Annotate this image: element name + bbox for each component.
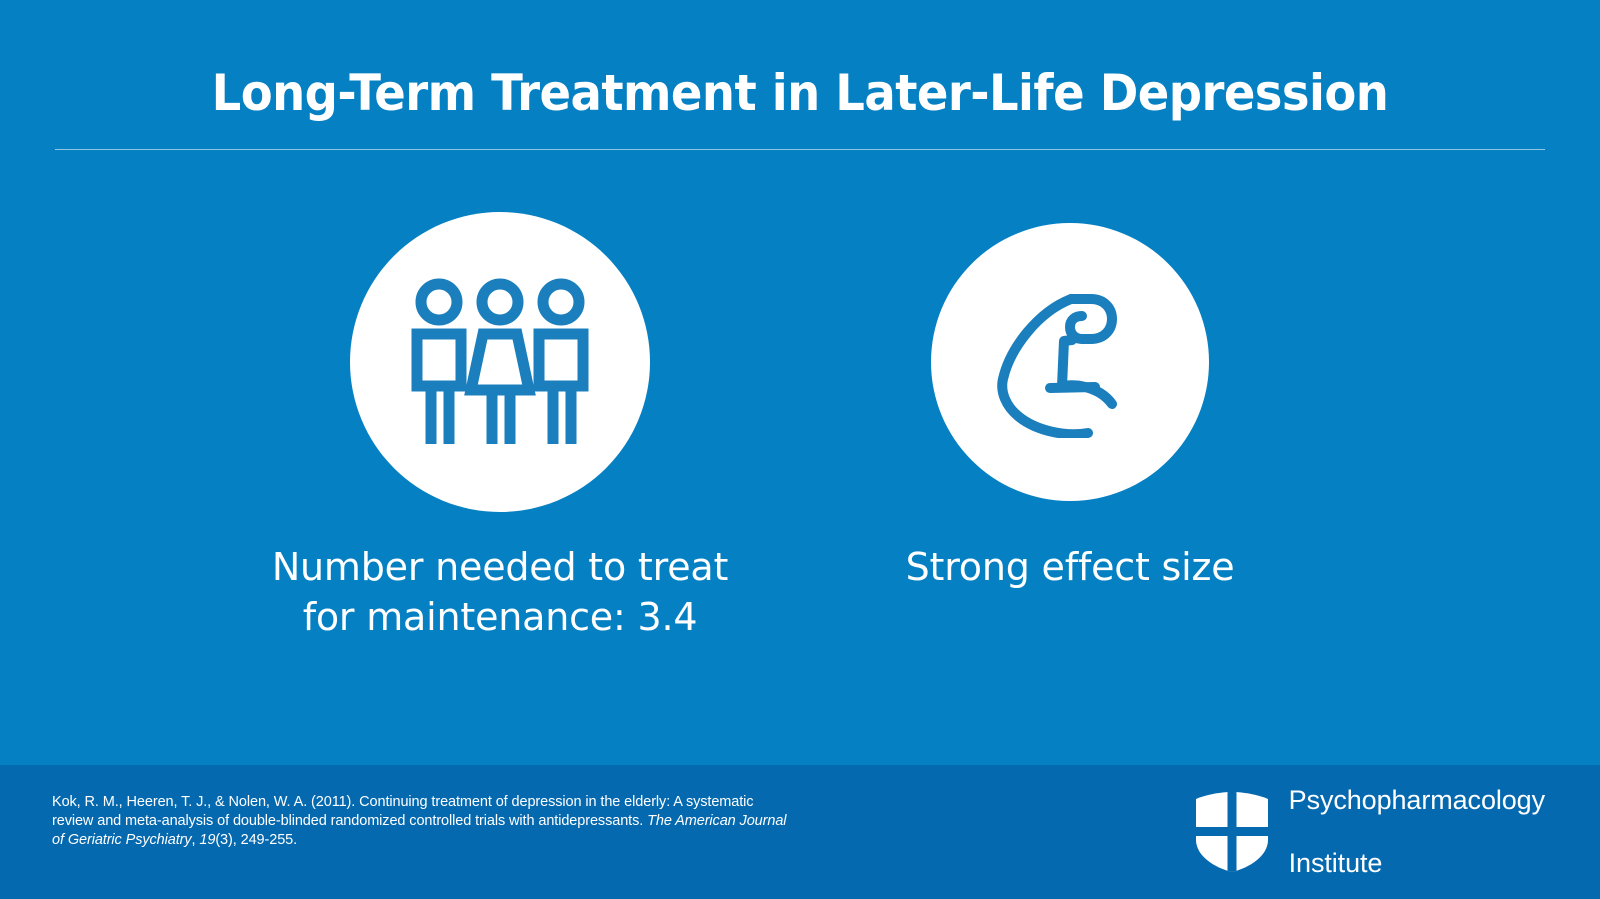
brand-name-line-1: Psychopharmacology	[1289, 785, 1545, 816]
slide: Long-Term Treatment in Later-Life Depres…	[0, 0, 1600, 899]
citation-pages: 249-255.	[241, 832, 297, 848]
title-zone: Long-Term Treatment in Later-Life Depres…	[0, 0, 1600, 160]
metric-caption-nnt: Number needed to treat for maintenance: …	[250, 542, 750, 642]
three-people-icon	[409, 278, 591, 446]
icon-circle-right	[931, 223, 1209, 501]
citation-issue: (3),	[215, 832, 236, 848]
footer-band: Kok, R. M., Heeren, T. J., & Nolen, W. A…	[0, 765, 1600, 899]
icon-circle-left	[350, 212, 650, 512]
content-columns: Number needed to treat for maintenance: …	[0, 200, 1600, 670]
shield-logo-icon	[1193, 790, 1271, 874]
brand-name-line-2: Institute	[1289, 848, 1545, 879]
brand-lockup: Psychopharmacology Institute	[1193, 789, 1545, 875]
citation-authors-year: Kok, R. M., Heeren, T. J., & Nolen, W. A…	[52, 794, 355, 810]
page-title: Long-Term Treatment in Later-Life Depres…	[56, 68, 1544, 118]
flexed-bicep-icon	[994, 286, 1146, 438]
metric-card-effect-size: Strong effect size	[820, 200, 1320, 592]
caption-line-1: Number needed to treat	[272, 545, 728, 589]
citation-volume: 19	[199, 832, 215, 848]
caption-line-1: Strong effect size	[906, 545, 1235, 589]
title-divider	[55, 149, 1545, 150]
citation-text: Kok, R. M., Heeren, T. J., & Nolen, W. A…	[52, 793, 792, 850]
brand-name: Psychopharmacology Institute	[1289, 754, 1545, 899]
metric-caption-effect-size: Strong effect size	[820, 542, 1320, 592]
caption-line-2: for maintenance: 3.4	[303, 595, 698, 639]
metric-card-nnt: Number needed to treat for maintenance: …	[250, 200, 750, 642]
